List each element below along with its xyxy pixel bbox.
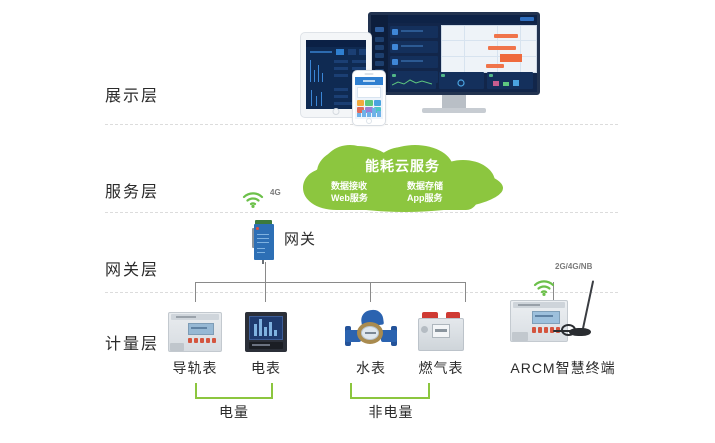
grouping-bracket-electricity — [195, 383, 273, 399]
layer-label-gateway: 网关层 — [105, 256, 195, 280]
water-meter-icon — [345, 310, 397, 352]
connector-to-gas-meter — [465, 282, 466, 302]
cloud-item-app-service: App服务 — [407, 192, 443, 204]
arcm-smart-terminal-label: ARCM智慧终端 — [498, 358, 628, 378]
grouping-bracket-non-electricity — [350, 383, 430, 399]
connector-gateway-trunk — [265, 262, 266, 282]
cloud-item-web-service: Web服务 — [331, 192, 368, 204]
din-rail-meter-icon — [168, 312, 222, 352]
gateway-uplink-label: 4G — [270, 188, 281, 197]
grouping-label-electricity: 电量 — [199, 402, 269, 422]
wifi-signal-icon — [533, 278, 555, 296]
gas-meter-label: 燃气表 — [406, 358, 476, 378]
cloud-title: 能耗云服务 — [295, 156, 510, 176]
cloud-item-data-receive: 数据接收 — [331, 180, 368, 192]
grouping-label-non-electricity: 非电量 — [355, 402, 427, 422]
arcm-smart-terminal-node: 2G/4G/NB — [495, 262, 630, 372]
energy-architecture-diagram: 展示层 服务层 网关层 计量层 — [0, 0, 715, 443]
panel-electric-meter-icon — [245, 312, 287, 352]
layer-label-service: 服务层 — [105, 178, 195, 202]
water-meter-label: 水表 — [340, 358, 402, 378]
gateway-device-icon — [252, 220, 278, 262]
cloud-service-node: 能耗云服务 数据接收 Web服务 数据存储 App服务 — [295, 142, 510, 214]
connector-to-electric-meter — [265, 282, 266, 302]
panel-electric-meter-label: 电表 — [236, 358, 296, 378]
cloud-item-data-storage: 数据存储 — [407, 180, 443, 192]
arcm-device-icon — [510, 300, 568, 342]
display-layer-devices — [300, 8, 545, 118]
smartphone-icon — [352, 70, 386, 126]
connector-to-water-meter — [370, 282, 371, 302]
cloud-items-right: 数据存储 App服务 — [407, 180, 443, 204]
din-rail-meter-label: 导轨表 — [160, 358, 230, 378]
arcm-uplink-label: 2G/4G/NB — [555, 262, 592, 271]
connector-bus — [195, 282, 465, 283]
gateway-label: 网关 — [284, 228, 316, 249]
layer-label-display: 展示层 — [105, 82, 195, 106]
cloud-items-left: 数据接收 Web服务 — [331, 180, 368, 204]
monitor-stand-base — [422, 108, 486, 113]
wifi-signal-icon — [242, 190, 264, 208]
monitor-stand-neck — [442, 95, 466, 109]
connector-to-din-meter — [195, 282, 196, 302]
gas-meter-icon — [418, 312, 464, 352]
desktop-monitor-icon — [368, 12, 540, 95]
